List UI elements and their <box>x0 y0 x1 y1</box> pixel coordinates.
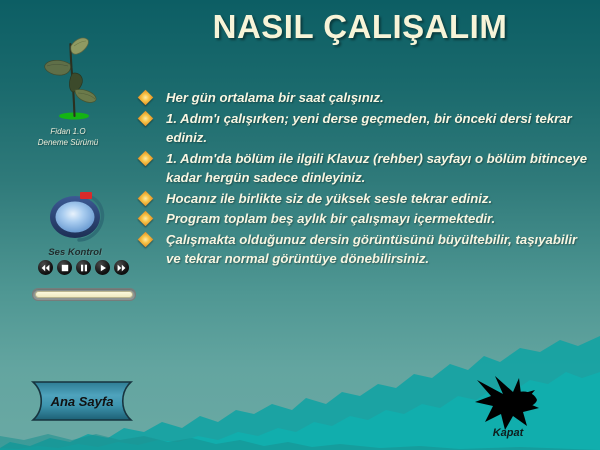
diamond-bullet-icon <box>138 231 154 247</box>
list-item: Her gün ortalama bir saat çalışınız. <box>138 88 590 108</box>
list-item: 1. Adım'da bölüm ile ilgili Klavuz (rehb… <box>138 149 590 188</box>
list-item: Program toplam beş aylık bir çalışmayı i… <box>138 209 590 229</box>
list-item: Çalışmakta olduğunuz dersin görüntüsünü … <box>138 230 590 269</box>
slide-title: NASIL ÇALIŞALIM <box>130 8 590 46</box>
bird-icon[interactable] <box>473 372 543 434</box>
bullet-text: Çalışmakta olduğunuz dersin görüntüsünü … <box>166 230 590 269</box>
bullet-text: 1. Adım'da bölüm ile ilgili Klavuz (rehb… <box>166 149 590 188</box>
diamond-bullet-icon <box>138 211 154 227</box>
play-icon <box>99 264 107 272</box>
fast-forward-icon <box>117 264 126 272</box>
sound-control-label: Ses Kontrol <box>20 247 130 258</box>
list-item: Hocanız ile birlikte siz de yüksek sesle… <box>138 189 590 209</box>
sapling-icon <box>28 32 120 122</box>
rewind-icon <box>41 264 50 272</box>
close-button-label: Kapat <box>462 427 554 439</box>
pause-icon <box>80 264 88 272</box>
rewind-button[interactable] <box>38 260 53 275</box>
pause-button[interactable] <box>76 260 91 275</box>
progress-slider-fill <box>35 291 133 298</box>
fast-forward-button[interactable] <box>114 260 129 275</box>
diamond-bullet-icon <box>138 110 154 126</box>
bullet-list: Her gün ortalama bir saat çalışınız. 1. … <box>138 88 590 270</box>
bullet-text: Program toplam beş aylık bir çalışmayı i… <box>166 209 590 229</box>
media-transport-controls <box>38 260 129 275</box>
stop-button[interactable] <box>57 260 72 275</box>
bullet-text: 1. Adım'ı çalışırken; yeni derse geçmede… <box>166 109 590 148</box>
stop-icon <box>61 264 69 272</box>
diamond-bullet-icon <box>138 150 154 166</box>
bullet-text: Hocanız ile birlikte siz de yüksek sesle… <box>166 189 590 209</box>
progress-slider[interactable] <box>32 288 136 301</box>
caption-line-2: Deneme Sürümü <box>14 137 122 148</box>
caption-line-1: Fidan 1.O <box>14 126 122 137</box>
logo-caption: Fidan 1.O Deneme Sürümü <box>14 126 122 148</box>
presentation-slide: NASIL ÇALIŞALIM Her gün ortalama bir saa… <box>0 0 600 450</box>
home-button[interactable]: Ana Sayfa <box>30 380 134 422</box>
bullet-text: Her gün ortalama bir saat çalışınız. <box>166 88 590 108</box>
home-button-shape <box>30 380 134 422</box>
diamond-bullet-icon <box>138 90 154 106</box>
diamond-bullet-icon <box>138 190 154 206</box>
volume-orb-icon[interactable] <box>46 190 108 246</box>
play-button[interactable] <box>95 260 110 275</box>
list-item: 1. Adım'ı çalışırken; yeni derse geçmede… <box>138 109 590 148</box>
